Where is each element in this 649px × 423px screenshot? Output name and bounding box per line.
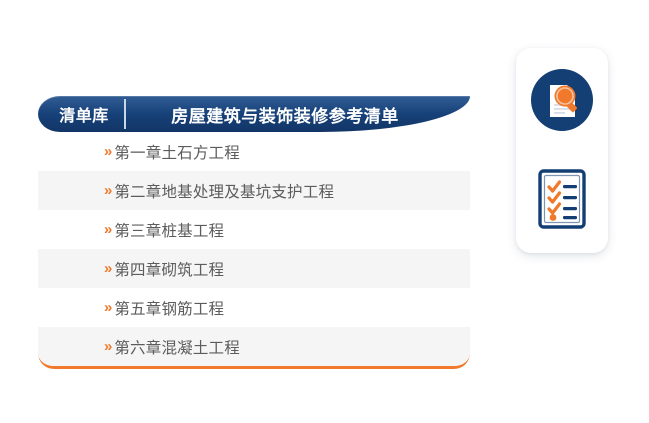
chevron-double-right-icon: » (104, 222, 112, 237)
list-library-tag: 清单库 (38, 96, 124, 132)
list-item-label: 第一章土石方工程 (114, 141, 240, 163)
chevron-double-right-icon: » (104, 339, 112, 354)
chevron-double-right-icon: » (104, 183, 112, 198)
document-search-icon (530, 68, 594, 137)
list-item[interactable]: » 第一章土石方工程 (38, 132, 470, 171)
list-item[interactable]: » 第三章桩基工程 (38, 210, 470, 249)
list-item[interactable]: » 第二章地基处理及基坑支护工程 (38, 171, 470, 210)
list-item-label: 第四章砌筑工程 (114, 258, 224, 280)
checklist-icon (537, 168, 587, 235)
list-item[interactable]: » 第六章混凝土工程 (38, 327, 470, 366)
list-item-label: 第二章地基处理及基坑支护工程 (114, 180, 334, 202)
chevron-double-right-icon: » (104, 261, 112, 276)
icon-card (516, 48, 608, 253)
clause-list-panel: 清单库 房屋建筑与装饰装修参考清单 » 第一章土石方工程 » 第二章地基处理及基… (38, 96, 470, 372)
clause-list: » 第一章土石方工程 » 第二章地基处理及基坑支护工程 » 第三章桩基工程 » … (38, 132, 470, 369)
list-item[interactable]: » 第五章钢筋工程 (38, 288, 470, 327)
chevron-double-right-icon: » (104, 144, 112, 159)
list-item-label: 第三章桩基工程 (114, 219, 224, 241)
list-header-banner: 清单库 房屋建筑与装饰装修参考清单 (38, 96, 470, 132)
list-item-label: 第六章混凝土工程 (114, 336, 240, 358)
page-title: 房屋建筑与装饰装修参考清单 (126, 96, 470, 132)
list-item[interactable]: » 第四章砌筑工程 (38, 249, 470, 288)
list-item-label: 第五章钢筋工程 (114, 297, 224, 319)
chevron-double-right-icon: » (104, 300, 112, 315)
